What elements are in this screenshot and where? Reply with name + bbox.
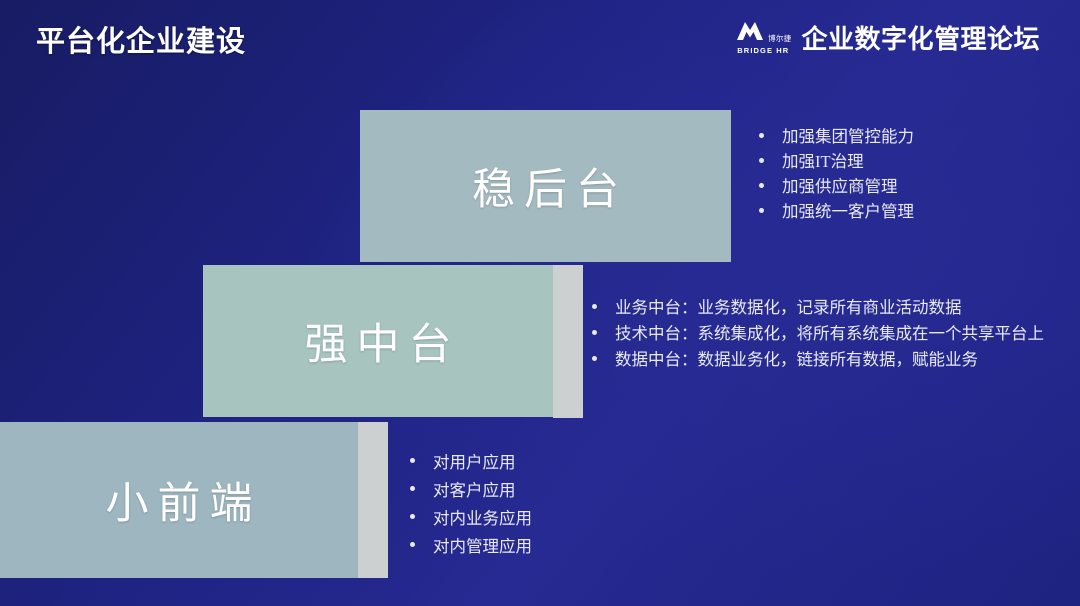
list-item: 加强集团管控能力 [753, 124, 914, 149]
step-shadow-middle [553, 265, 583, 418]
mountain-m-icon [735, 20, 765, 45]
list-item: 对内业务应用 [404, 505, 532, 533]
page-title: 平台化企业建设 [36, 18, 246, 60]
step-block-middle-platform: 强中台 [203, 265, 553, 417]
list-item: 加强统一客户管理 [753, 199, 914, 224]
step-label-frontend: 小前端 [97, 469, 262, 531]
slide-canvas: 平台化企业建设 博尔捷 BRIDGE HR 企业数字化管理论坛 稳后台 强中台 … [0, 0, 1080, 606]
step-label-middle-platform: 强中台 [296, 310, 461, 372]
list-item: 对客户应用 [404, 477, 532, 505]
brand-name-cn: 博尔捷 [768, 35, 791, 45]
list-item: 业务中台：业务数据化，记录所有商业活动数据 [586, 295, 1064, 321]
list-item: 数据中台：数据业务化，链接所有数据，赋能业务 [586, 347, 1064, 373]
step-label-backend: 稳后台 [463, 155, 628, 217]
list-item: 对用户应用 [404, 449, 532, 477]
brand-bar: 博尔捷 BRIDGE HR 企业数字化管理论坛 [735, 16, 1040, 58]
bullet-list-frontend: 对用户应用 对客户应用 对内业务应用 对内管理应用 [404, 449, 532, 561]
list-item: 加强供应商管理 [753, 174, 914, 199]
step-block-backend: 稳后台 [360, 110, 731, 262]
bullet-list-backend: 加强集团管控能力 加强IT治理 加强供应商管理 加强统一客户管理 [753, 124, 914, 224]
bridge-hr-logo: 博尔捷 BRIDGE HR [735, 20, 791, 55]
forum-title: 企业数字化管理论坛 [801, 19, 1040, 56]
step-block-frontend: 小前端 [0, 422, 358, 578]
list-item: 技术中台：系统集成化，将所有系统集成在一个共享平台上 [586, 321, 1064, 347]
brand-name-en: BRIDGE HR [737, 47, 789, 55]
list-item: 对内管理应用 [404, 533, 532, 561]
bullet-list-middle-platform: 业务中台：业务数据化，记录所有商业活动数据 技术中台：系统集成化，将所有系统集成… [586, 295, 1064, 373]
step-shadow-frontend [358, 422, 388, 578]
list-item: 加强IT治理 [753, 149, 914, 174]
